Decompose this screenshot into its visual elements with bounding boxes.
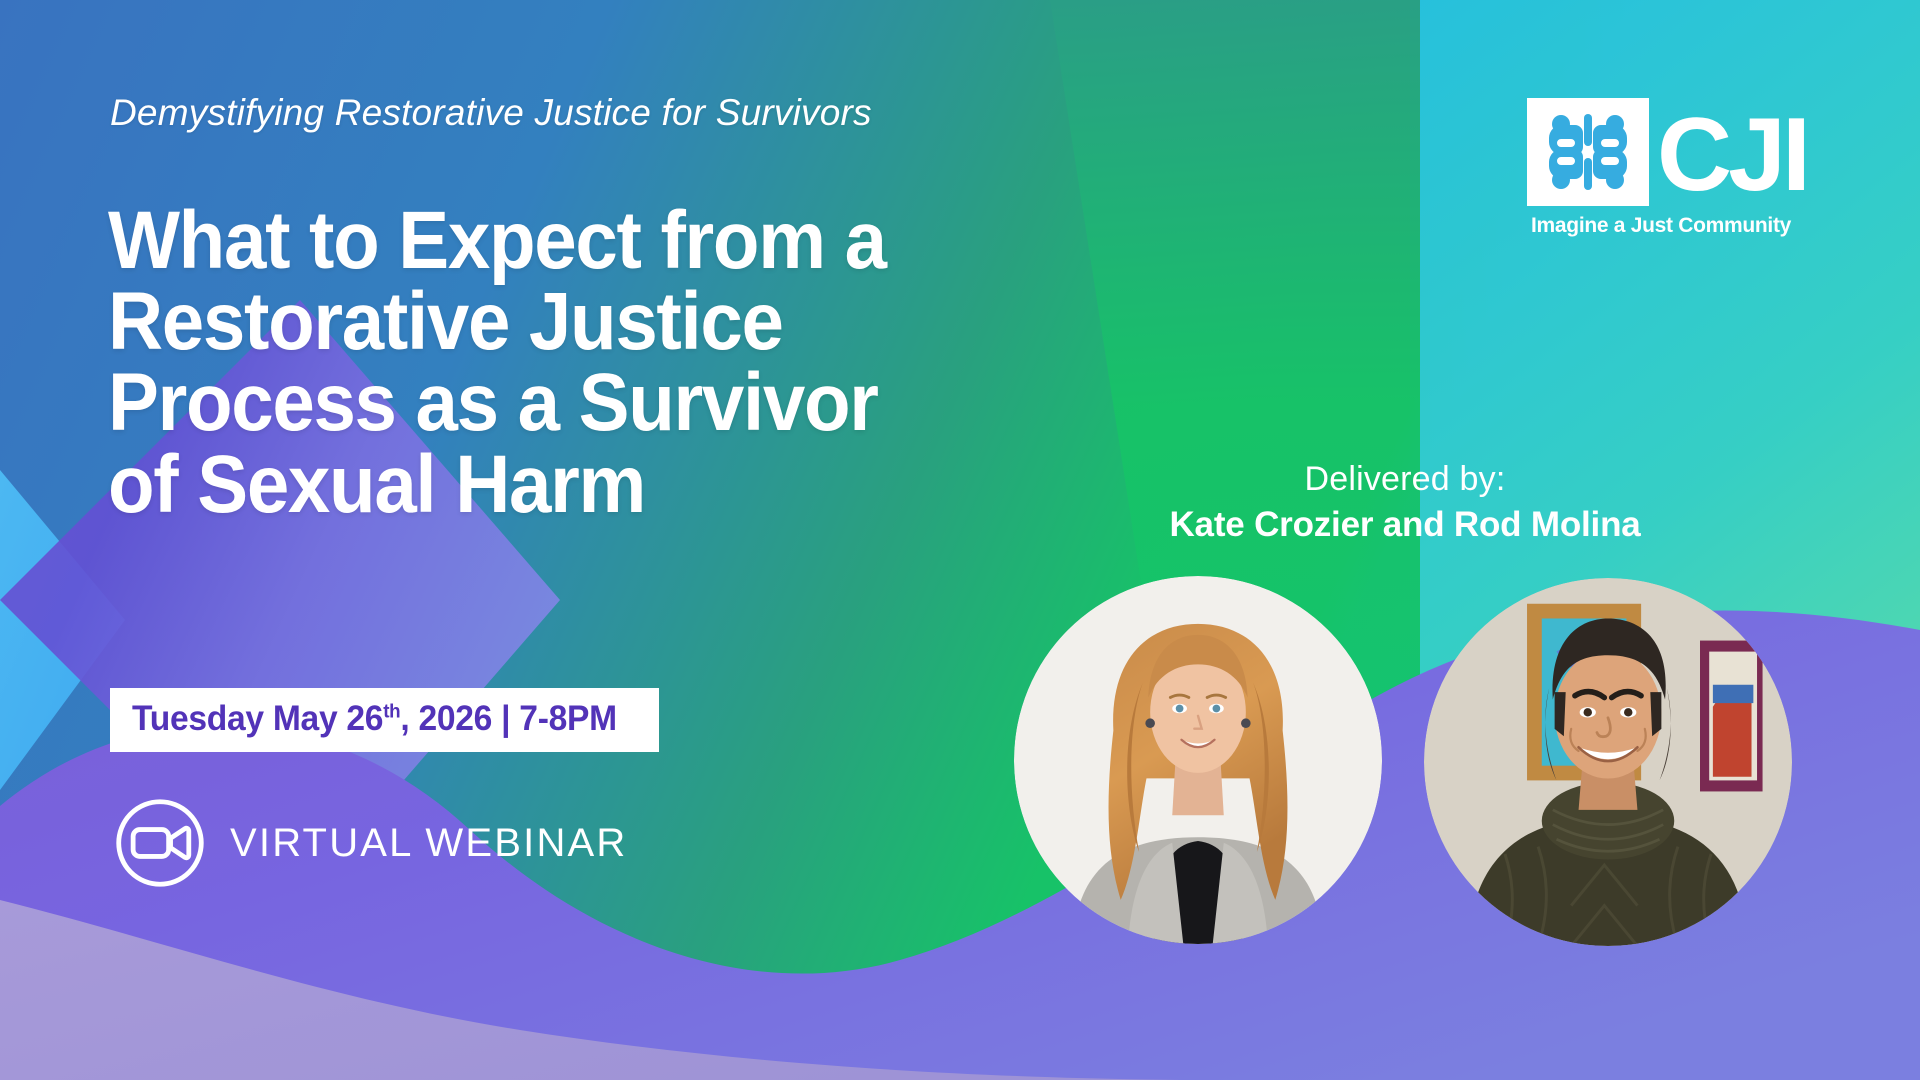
video-camera-icon [112, 795, 208, 891]
date-main: Tuesday May 26 [132, 699, 383, 738]
format-label: VIRTUAL WEBINAR [230, 821, 628, 866]
page-title: What to Expect from a Restorative Justic… [108, 200, 1131, 525]
presenters-block: Delivered by: Kate Crozier and Rod Molin… [1150, 458, 1660, 547]
date-time-text: Tuesday May 26th, 2026 | 7-8PM [132, 699, 617, 739]
cji-logo-graphic: CJI Imagine a Just Community [1527, 98, 1823, 240]
webinar-poster: Demystifying Restorative Justice for Sur… [0, 0, 1920, 1080]
delivered-by-label: Delivered by: [1150, 458, 1660, 502]
headline-line-1: What to Expect from a [108, 200, 1131, 281]
eyebrow-series-title: Demystifying Restorative Justice for Sur… [110, 92, 872, 134]
presenter-photo-rod-molina [1424, 578, 1792, 946]
avatar [1014, 576, 1382, 944]
presenter-photo-kate-crozier [1014, 576, 1382, 944]
date-year-time: , 2026 | 7-8PM [400, 699, 616, 738]
date-time-badge: Tuesday May 26th, 2026 | 7-8PM [110, 688, 659, 752]
headline-line-4: of Sexual Harm [108, 444, 1131, 525]
cji-tagline: Imagine a Just Community [1531, 214, 1792, 237]
headline-line-2: Restorative Justice [108, 281, 1131, 362]
date-ordinal-suffix: th [383, 700, 400, 722]
format-indicator: VIRTUAL WEBINAR [112, 795, 628, 891]
cji-logo: CJI Imagine a Just Community [1527, 98, 1823, 240]
presenter-names: Kate Crozier and Rod Molina [1150, 502, 1660, 548]
cji-wordmark: CJI [1657, 98, 1807, 213]
headline-line-3: Process as a Survivor [108, 362, 1131, 443]
avatar [1424, 578, 1792, 946]
